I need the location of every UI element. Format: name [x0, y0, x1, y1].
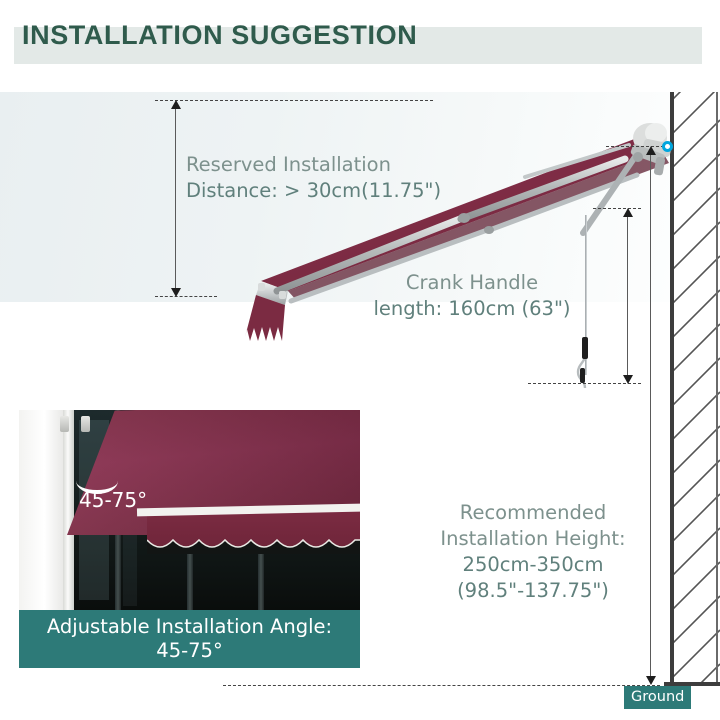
- photo-valance-scallop-edge: [147, 538, 360, 554]
- wall-mount-point-marker: [662, 141, 673, 152]
- install-height-line4: (98.5"-137.75"): [438, 578, 628, 604]
- reserved-distance-arrow-top: [171, 100, 181, 109]
- installation-angle-banner: Adjustable Installation Angle: 45-75°: [19, 610, 360, 668]
- photo-angle-overlay-label: 45-75°: [79, 488, 147, 512]
- reserved-distance-top-guide: [155, 100, 433, 101]
- crank-handle-grip: [582, 337, 588, 359]
- crank-handle-line2: length: 160cm (63"): [366, 296, 578, 322]
- photo-awning-bracket-right: [81, 416, 90, 432]
- installation-angle-photo: 45-75°: [19, 410, 360, 610]
- wall-hatching-icon: [672, 92, 720, 686]
- crank-handle-tip: [580, 368, 585, 383]
- page-title: INSTALLATION SUGGESTION: [22, 20, 417, 51]
- installation-suggestion-page: INSTALLATION SUGGESTION: [0, 0, 720, 720]
- crank-length-dimension-line: [627, 211, 628, 380]
- photo-door-frame: [19, 410, 65, 610]
- reserved-distance-label: Reserved Installation Distance: > 30cm(1…: [186, 152, 441, 204]
- wall-inner-edge: [716, 92, 718, 686]
- reserved-distance-line1: Reserved Installation: [186, 152, 441, 178]
- crank-length-arrow-bottom: [623, 375, 633, 384]
- ground-line: [223, 685, 660, 686]
- crank-handle-line1: Crank Handle: [366, 270, 578, 296]
- install-height-line3: 250cm-350cm: [438, 552, 628, 578]
- crank-length-arrow-top: [623, 208, 633, 217]
- install-height-arrow-top: [646, 146, 656, 155]
- wall-outer-edge: [670, 92, 674, 686]
- reserved-distance-bottom-guide: [155, 296, 217, 297]
- reserved-distance-arrow-bottom: [171, 288, 181, 297]
- install-height-line2: Installation Height:: [438, 526, 628, 552]
- photo-awning-bracket-left: [60, 416, 69, 432]
- install-height-line1: Recommended: [438, 500, 628, 526]
- crank-handle-label: Crank Handle length: 160cm (63"): [366, 270, 578, 322]
- wall-cross-section: [672, 92, 720, 686]
- installation-angle-banner-line2: 45-75°: [156, 639, 222, 663]
- photo-door-rail: [63, 410, 74, 610]
- installation-angle-banner-line1: Adjustable Installation Angle:: [47, 615, 332, 639]
- ground-label: Ground: [624, 686, 691, 709]
- reserved-distance-dimension-line: [175, 103, 176, 293]
- crank-length-top-guide: [593, 208, 641, 209]
- install-height-dimension-line: [650, 149, 651, 681]
- reserved-distance-line2: Distance: > 30cm(11.75"): [186, 178, 441, 204]
- installation-height-label: Recommended Installation Height: 250cm-3…: [438, 500, 628, 604]
- install-height-arrow-bottom: [646, 676, 656, 685]
